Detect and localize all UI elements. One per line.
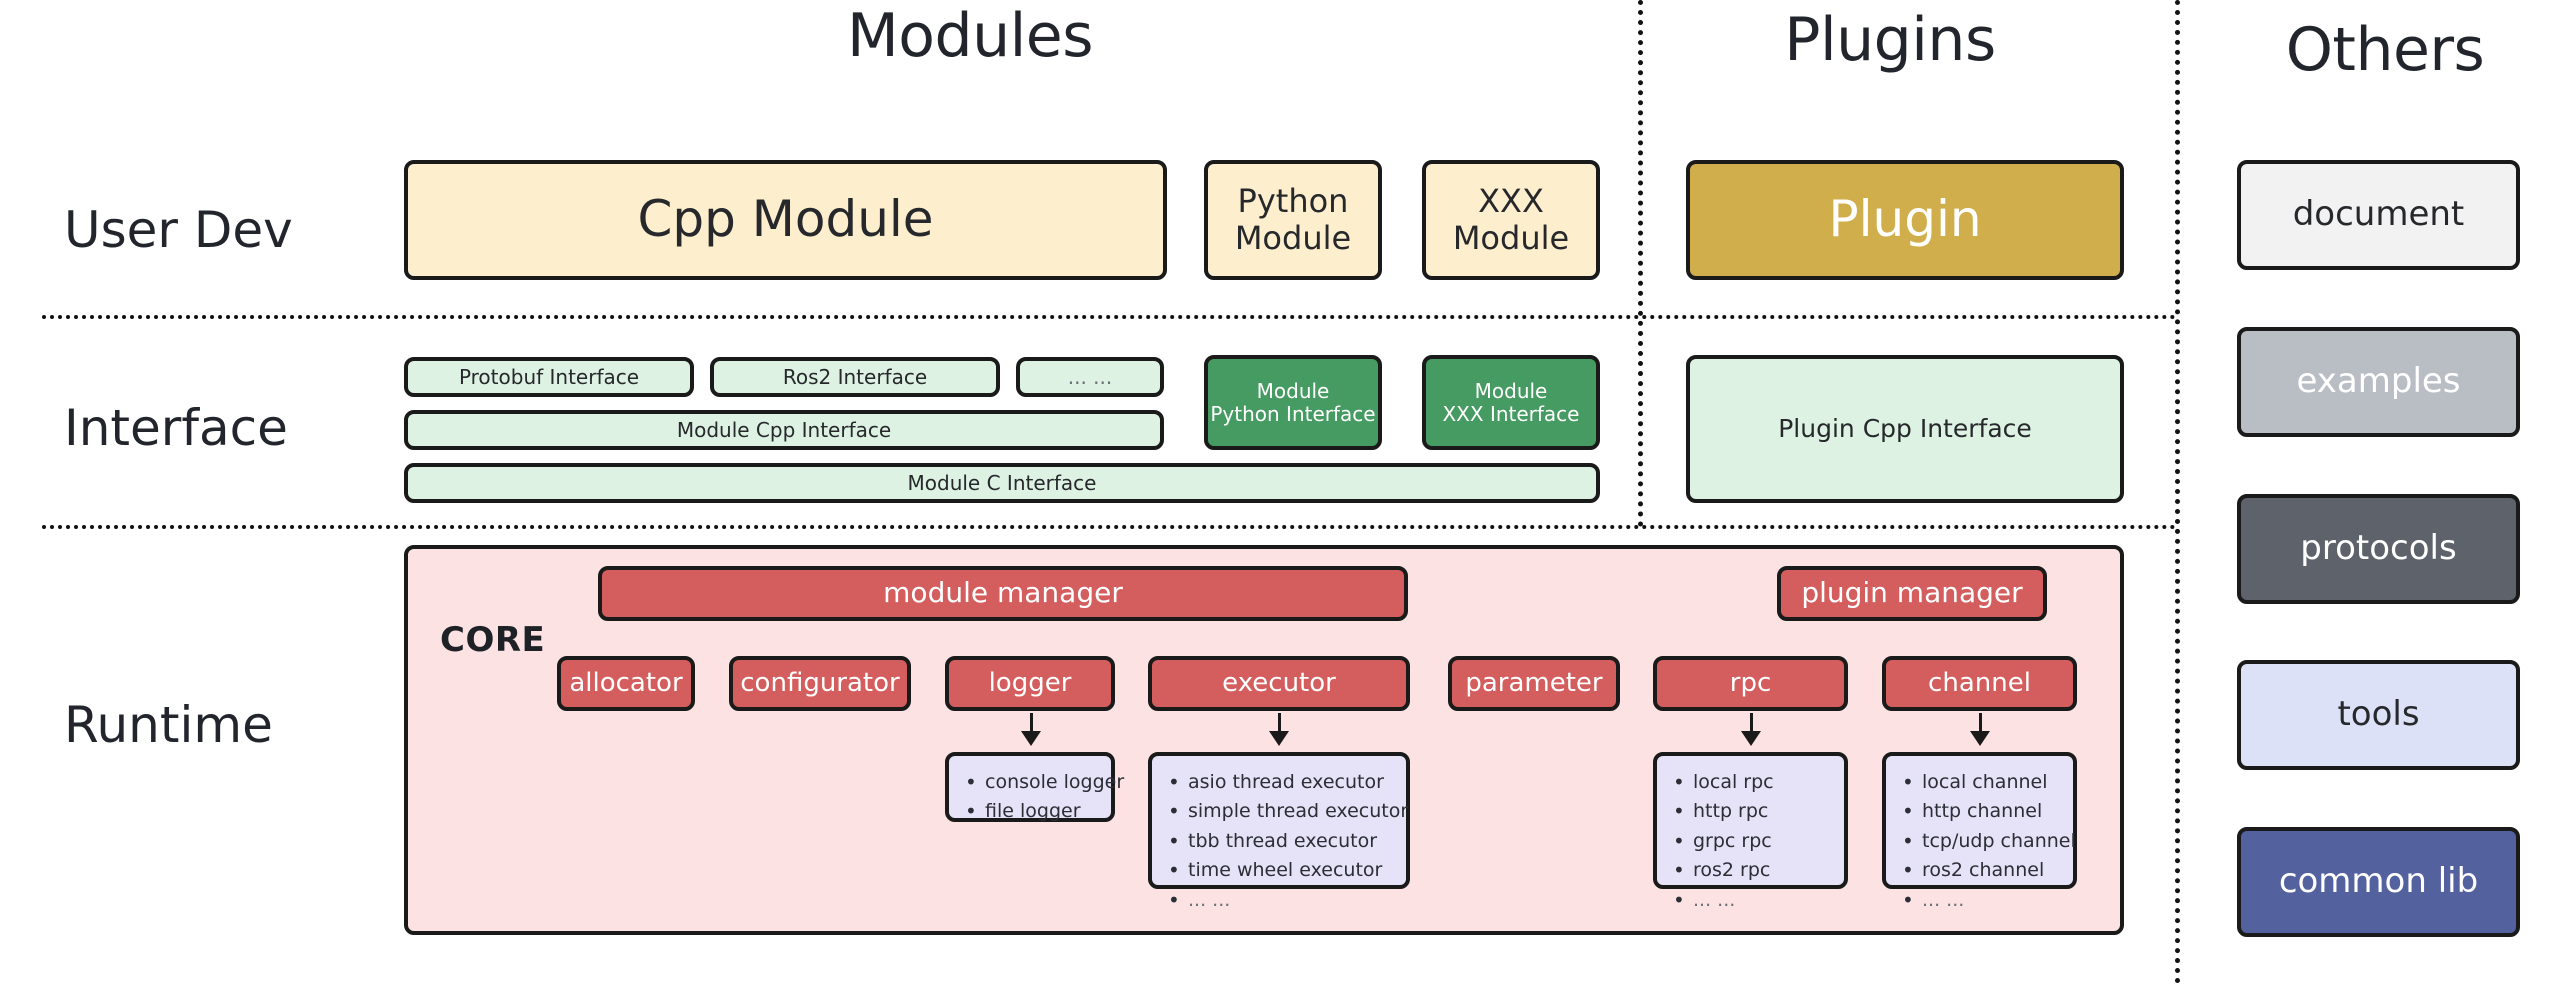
node-rpc[interactable]: rpc	[1653, 656, 1848, 711]
node-others-document[interactable]: document	[2237, 160, 2520, 270]
list-item: simple thread executor	[1188, 797, 1392, 826]
node-module-xxx-interface[interactable]: Module XXX Interface	[1422, 355, 1600, 450]
column-title-plugins: Plugins	[1680, 10, 2100, 70]
node-others-common-lib[interactable]: common lib	[2237, 827, 2520, 937]
list-item: ros2 rpc	[1693, 856, 1830, 885]
list-item: grpc rpc	[1693, 827, 1830, 856]
node-executor[interactable]: executor	[1148, 656, 1410, 711]
row-label-interface: Interface	[64, 403, 288, 453]
row-label-user-dev: User Dev	[64, 205, 293, 255]
list-item: http channel	[1922, 797, 2059, 826]
node-python-module[interactable]: Python Module	[1204, 160, 1382, 280]
details-logger: console logger file logger	[945, 752, 1115, 822]
node-plugin[interactable]: Plugin	[1686, 160, 2124, 280]
node-module-python-interface[interactable]: Module Python Interface	[1204, 355, 1382, 450]
list-item: http rpc	[1693, 797, 1830, 826]
node-xxx-module[interactable]: XXX Module	[1422, 160, 1600, 280]
list-item: time wheel executor	[1188, 856, 1392, 885]
list-item: ... ...	[1693, 886, 1830, 915]
list-item: file logger	[985, 797, 1097, 826]
separator-plugins-others	[2175, 0, 2180, 984]
node-logger[interactable]: logger	[945, 656, 1115, 711]
column-title-others: Others	[2220, 20, 2550, 80]
list-item: asio thread executor	[1188, 768, 1392, 797]
node-cpp-module[interactable]: Cpp Module	[404, 160, 1167, 280]
separator-userdev-interface	[42, 315, 2177, 319]
list-item: tbb thread executor	[1188, 827, 1392, 856]
list-item: tcp/udp channel	[1922, 827, 2059, 856]
node-plugin-cpp-interface[interactable]: Plugin Cpp Interface	[1686, 355, 2124, 503]
list-item: local rpc	[1693, 768, 1830, 797]
node-ros2-interface[interactable]: Ros2 Interface	[710, 357, 1000, 397]
list-item: local channel	[1922, 768, 2059, 797]
node-others-tools[interactable]: tools	[2237, 660, 2520, 770]
node-plugin-manager[interactable]: plugin manager	[1777, 566, 2047, 621]
list-item: ros2 channel	[1922, 856, 2059, 885]
details-channel: local channel http channel tcp/udp chann…	[1882, 752, 2077, 889]
node-allocator[interactable]: allocator	[557, 656, 695, 711]
node-protobuf-interface[interactable]: Protobuf Interface	[404, 357, 694, 397]
row-label-runtime: Runtime	[64, 700, 273, 750]
node-others-protocols[interactable]: protocols	[2237, 494, 2520, 604]
core-label: CORE	[440, 620, 545, 660]
node-channel[interactable]: channel	[1882, 656, 2077, 711]
details-rpc: local rpc http rpc grpc rpc ros2 rpc ...…	[1653, 752, 1848, 889]
node-parameter[interactable]: parameter	[1448, 656, 1620, 711]
details-executor: asio thread executor simple thread execu…	[1148, 752, 1410, 889]
node-module-c-interface[interactable]: Module C Interface	[404, 463, 1600, 503]
node-more-interfaces[interactable]: ... ...	[1016, 357, 1164, 397]
column-title-modules: Modules	[760, 6, 1180, 66]
separator-modules-plugins	[1638, 0, 1643, 527]
list-item: ... ...	[1188, 886, 1392, 915]
list-item: ... ...	[1922, 886, 2059, 915]
node-configurator[interactable]: configurator	[729, 656, 911, 711]
node-module-cpp-interface[interactable]: Module Cpp Interface	[404, 410, 1164, 450]
node-others-examples[interactable]: examples	[2237, 327, 2520, 437]
separator-interface-runtime	[42, 525, 2177, 529]
node-module-manager[interactable]: module manager	[598, 566, 1408, 621]
list-item: console logger	[985, 768, 1097, 797]
